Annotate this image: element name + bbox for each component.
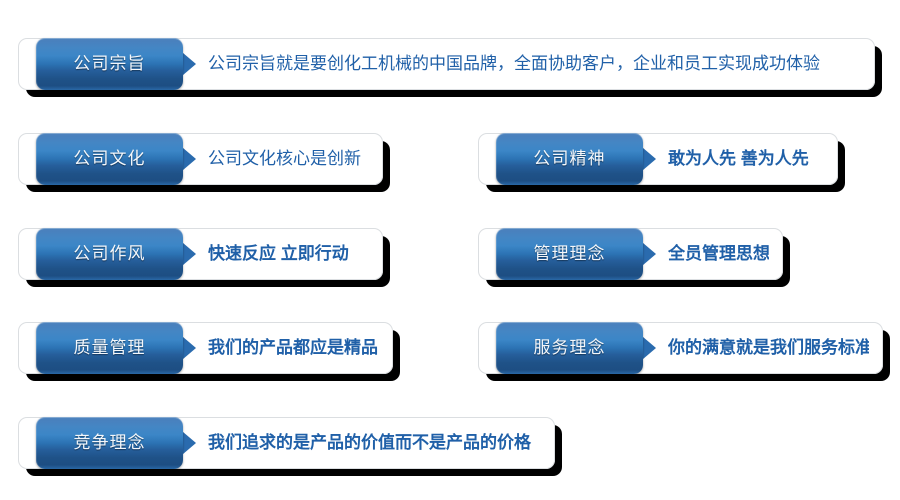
banner-tab-label: 公司文化 xyxy=(36,133,183,185)
banner-tab[interactable]: 公司宗旨 xyxy=(36,38,183,90)
banner-tab-label: 公司宗旨 xyxy=(36,38,183,90)
banner-tab-label: 竞争理念 xyxy=(36,417,183,469)
banner-company-style[interactable]: 快速反应 立即行动公司作风 xyxy=(18,228,383,280)
banner-board: 公司宗旨就是要创化工机械的中国品牌，全面协助客户，企业和员工实现成功体验公司宗旨… xyxy=(0,0,900,500)
banner-tab[interactable]: 公司文化 xyxy=(36,133,183,185)
banner-description: 公司宗旨就是要创化工机械的中国品牌，全面协助客户，企业和员工实现成功体验 xyxy=(208,38,861,90)
banner-description: 全员管理思想 xyxy=(668,228,769,280)
banner-tab-label: 公司作风 xyxy=(36,228,183,280)
banner-management-philosophy[interactable]: 全员管理思想管理理念 xyxy=(478,228,783,280)
banner-tab-label: 质量管理 xyxy=(36,322,183,374)
banner-tab[interactable]: 公司精神 xyxy=(496,133,643,185)
banner-description: 你的满意就是我们服务标准 xyxy=(668,322,869,374)
banner-description: 公司文化核心是创新 xyxy=(208,133,369,185)
banner-tab-label: 公司精神 xyxy=(496,133,643,185)
banner-company-spirit[interactable]: 敢为人先 善为人先公司精神 xyxy=(478,133,838,185)
banner-quality-management[interactable]: 我们的产品都应是精品质量管理 xyxy=(18,322,393,374)
banner-tab[interactable]: 竞争理念 xyxy=(36,417,183,469)
banner-description: 敢为人先 善为人先 xyxy=(668,133,824,185)
banner-description: 我们的产品都应是精品 xyxy=(208,322,379,374)
banner-competition-philosophy[interactable]: 我们追求的是产品的价值而不是产品的价格竞争理念 xyxy=(18,417,555,469)
banner-company-purpose[interactable]: 公司宗旨就是要创化工机械的中国品牌，全面协助客户，企业和员工实现成功体验公司宗旨 xyxy=(18,38,875,90)
banner-company-culture[interactable]: 公司文化核心是创新公司文化 xyxy=(18,133,383,185)
banner-service-philosophy[interactable]: 你的满意就是我们服务标准服务理念 xyxy=(478,322,883,374)
banner-tab-label: 管理理念 xyxy=(496,228,643,280)
banner-tab[interactable]: 管理理念 xyxy=(496,228,643,280)
banner-tab[interactable]: 服务理念 xyxy=(496,322,643,374)
banner-tab-label: 服务理念 xyxy=(496,322,643,374)
banner-description: 我们追求的是产品的价值而不是产品的价格 xyxy=(208,417,541,469)
banner-tab[interactable]: 质量管理 xyxy=(36,322,183,374)
banner-description: 快速反应 立即行动 xyxy=(208,228,369,280)
banner-tab[interactable]: 公司作风 xyxy=(36,228,183,280)
